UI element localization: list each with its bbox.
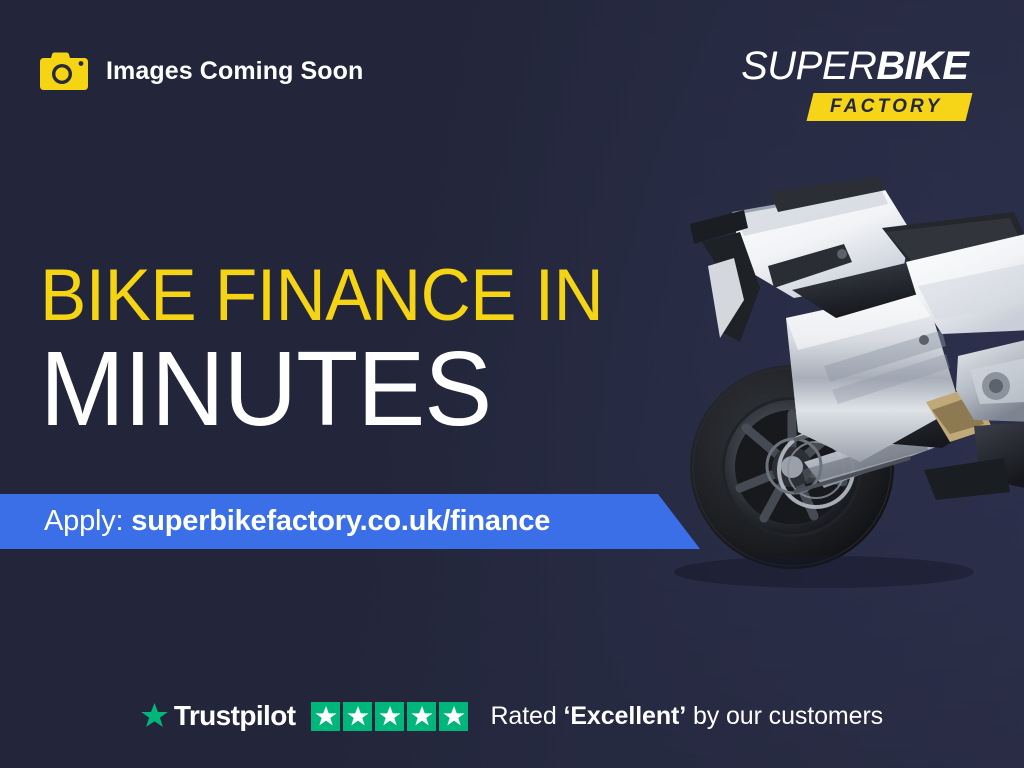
star-icon bbox=[407, 702, 436, 731]
rating-value: ‘Excellent’ bbox=[564, 702, 687, 730]
logo-factory-text: FACTORY bbox=[830, 97, 943, 117]
trustpilot-star-rating bbox=[311, 702, 468, 731]
logo-bike-text: BIKE bbox=[876, 44, 968, 88]
trustpilot-logo[interactable]: Trustpilot bbox=[141, 700, 296, 732]
star-icon bbox=[375, 702, 404, 731]
trustpilot-star-icon bbox=[141, 703, 168, 729]
images-coming-soon-label: Images Coming Soon bbox=[106, 57, 363, 86]
star-icon bbox=[311, 702, 340, 731]
headline: BIKE FINANCE IN MINUTES bbox=[40, 258, 633, 442]
camera-icon bbox=[40, 52, 88, 90]
logo-factory-banner: FACTORY bbox=[806, 93, 971, 121]
superbike-factory-logo[interactable]: SUPERBIKE FACTORY bbox=[741, 44, 968, 121]
logo-wordmark-top: SUPERBIKE bbox=[741, 44, 968, 88]
trustpilot-footer: Trustpilot Rated ‘Excellent’ by our cust… bbox=[0, 664, 1024, 768]
images-coming-soon: Images Coming Soon bbox=[40, 52, 363, 90]
apply-prefix-label: Apply: bbox=[44, 505, 131, 537]
logo-super-text: SUPER bbox=[741, 44, 876, 88]
promo-banner: Images Coming Soon SUPERBIKE FACTORY BIK… bbox=[0, 0, 1024, 768]
headline-line-2: MINUTES bbox=[40, 336, 609, 442]
apply-cta-text: Apply: superbikefactory.co.uk/finance bbox=[0, 505, 550, 538]
trustpilot-rating-text: Rated ‘Excellent’ by our customers bbox=[490, 702, 883, 731]
apply-url-label: superbikefactory.co.uk/finance bbox=[131, 505, 550, 537]
rating-prefix: Rated bbox=[490, 702, 563, 730]
headline-line-1: BIKE FINANCE IN bbox=[40, 258, 603, 334]
trustpilot-wordmark: Trustpilot bbox=[174, 700, 296, 732]
rating-suffix: by our customers bbox=[686, 702, 883, 730]
star-icon bbox=[343, 702, 372, 731]
apply-cta-banner[interactable]: Apply: superbikefactory.co.uk/finance bbox=[0, 494, 700, 549]
star-icon bbox=[439, 702, 468, 731]
